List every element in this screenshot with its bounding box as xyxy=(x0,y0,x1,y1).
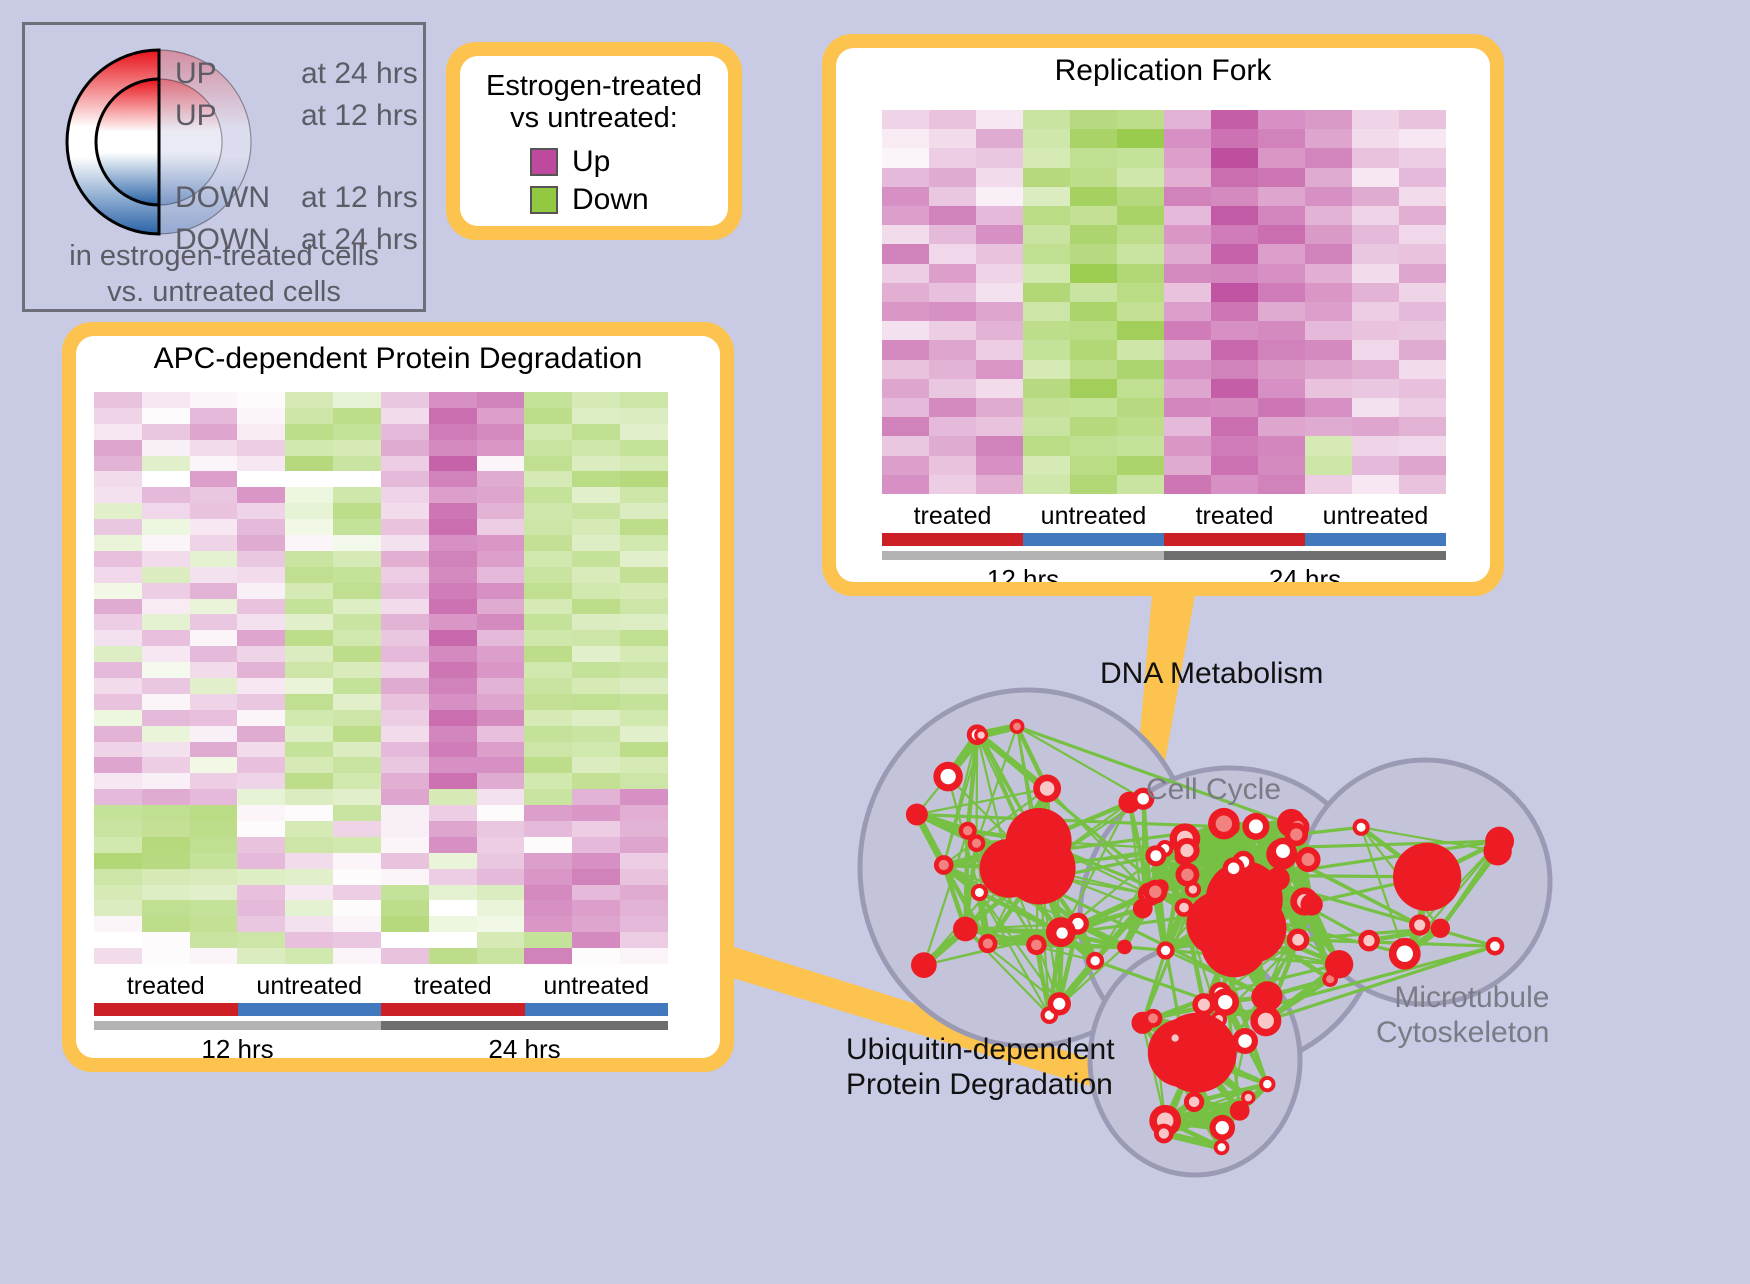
axis-treatment-segment xyxy=(94,1003,238,1016)
network-node[interactable] xyxy=(1409,914,1430,935)
network-node-core xyxy=(1053,998,1065,1010)
figure-canvas: UP at 24 hrs UP at 12 hrs DOWN at 12 hrs… xyxy=(0,0,1750,1279)
network-node-ring xyxy=(1157,1013,1237,1093)
legend-title-line-1: Estrogen-treated xyxy=(476,70,712,102)
heatmap-cell xyxy=(1352,302,1399,321)
network-node[interactable] xyxy=(911,952,937,978)
network-node[interactable] xyxy=(1211,988,1239,1016)
heatmap-cell xyxy=(285,837,333,853)
heatmap-cell xyxy=(429,742,477,758)
axis-time-label: 24 hrs xyxy=(381,1034,668,1058)
network-node[interactable] xyxy=(1026,935,1046,955)
heatmap-cell xyxy=(524,916,572,932)
heatmap-cell xyxy=(524,471,572,487)
axis-time-segment xyxy=(94,1021,381,1030)
heatmap-cell xyxy=(524,551,572,567)
heatmap-cell xyxy=(94,805,142,821)
network-node[interactable] xyxy=(1156,941,1174,959)
heatmap-cell xyxy=(333,440,381,456)
heatmap-cell xyxy=(1258,148,1305,167)
heatmap-cell xyxy=(1070,417,1117,436)
heatmap-cell xyxy=(285,424,333,440)
heatmap-cell xyxy=(285,583,333,599)
heatmap-cell xyxy=(285,519,333,535)
heatmap-cell xyxy=(1164,321,1211,340)
heatmap-cell xyxy=(237,726,285,742)
heatmap-cell xyxy=(620,662,668,678)
heatmap-cell xyxy=(94,916,142,932)
heatmap-cell xyxy=(1399,456,1446,475)
heatmap-cell xyxy=(142,678,190,694)
heatmap-cell xyxy=(1023,283,1070,302)
heatmap-cell xyxy=(1399,398,1446,417)
heatmap-cell xyxy=(237,519,285,535)
heatmap-cell xyxy=(1352,148,1399,167)
heatmap-cell xyxy=(929,417,976,436)
heatmap-cell xyxy=(1023,110,1070,129)
heatmap-apc-degradation xyxy=(94,392,668,964)
heatmap-cell xyxy=(381,614,429,630)
network-node[interactable] xyxy=(1251,984,1277,1010)
heatmap-cell xyxy=(190,805,238,821)
heatmap-cell xyxy=(1070,206,1117,225)
heatmap-cell xyxy=(620,583,668,599)
heatmap-cell xyxy=(381,392,429,408)
heatmap-cell xyxy=(381,535,429,551)
network-node[interactable] xyxy=(1259,1076,1275,1092)
network-node-core xyxy=(940,769,955,784)
heatmap-cell xyxy=(237,869,285,885)
heatmap-cell xyxy=(237,900,285,916)
heatmap-cell xyxy=(142,487,190,503)
heatmap-cell xyxy=(94,853,142,869)
heatmap-cell xyxy=(381,837,429,853)
heatmap-cell xyxy=(477,789,525,805)
heatmap-cell xyxy=(142,821,190,837)
heatmap-cell xyxy=(285,662,333,678)
heatmap-cell xyxy=(190,694,238,710)
heatmap-cell xyxy=(1164,360,1211,379)
panel-title-apc: APC-dependent Protein Degradation xyxy=(76,342,720,376)
heatmap-cell xyxy=(429,710,477,726)
heatmap-cell xyxy=(1117,379,1164,398)
heatmap-cell xyxy=(94,614,142,630)
heatmap-cell xyxy=(94,392,142,408)
heatmap-cell xyxy=(1070,264,1117,283)
heatmap-cell xyxy=(142,710,190,726)
heatmap-cell xyxy=(1305,456,1352,475)
heatmap-cell xyxy=(929,283,976,302)
network-node-core xyxy=(1435,923,1445,933)
heatmap-cell xyxy=(572,456,620,472)
heatmap-cell xyxy=(1023,360,1070,379)
heatmap-cell xyxy=(477,599,525,615)
heatmap-cell xyxy=(142,789,190,805)
heatmap-cell xyxy=(1164,148,1211,167)
panel-apc-degradation-inner: APC-dependent Protein Degradation treate… xyxy=(76,336,720,1058)
legend-panel-inner: Estrogen-treated vs untreated: Up Down xyxy=(460,56,728,226)
network-node[interactable] xyxy=(974,728,988,742)
heatmap-cell xyxy=(1258,110,1305,129)
network-node[interactable] xyxy=(906,803,928,825)
heatmap-cell xyxy=(333,519,381,535)
heatmap-cell xyxy=(976,360,1023,379)
heatmap-cell xyxy=(333,773,381,789)
network-node-core xyxy=(1181,868,1193,880)
network-node[interactable] xyxy=(1145,845,1166,866)
network-node[interactable] xyxy=(1287,928,1310,951)
heatmap-cell xyxy=(620,757,668,773)
network-node[interactable] xyxy=(1209,1115,1235,1141)
network-node[interactable] xyxy=(1214,1140,1230,1156)
heatmap-cell xyxy=(1352,206,1399,225)
heatmap-cell xyxy=(285,805,333,821)
heatmap-cell xyxy=(620,424,668,440)
heatmap-cell xyxy=(1211,206,1258,225)
heatmap-cell xyxy=(333,853,381,869)
network-node[interactable] xyxy=(1325,950,1353,978)
network-node[interactable] xyxy=(1086,952,1104,970)
heatmap-cell xyxy=(976,225,1023,244)
heatmap-cell xyxy=(572,853,620,869)
heatmap-cell xyxy=(237,916,285,932)
axis-time-label: 12 hrs xyxy=(94,1034,381,1058)
heatmap-cell xyxy=(1258,244,1305,263)
heatmap-cell xyxy=(1023,129,1070,148)
heatmap-cell xyxy=(429,853,477,869)
axis-group-label: treated xyxy=(1164,502,1305,531)
legend-item-up: Up xyxy=(530,143,712,181)
heatmap-cell xyxy=(572,837,620,853)
heatmap-cell xyxy=(333,694,381,710)
heatmap-cell xyxy=(929,244,976,263)
heatmap-cell xyxy=(882,129,929,148)
heatmap-cell xyxy=(1352,456,1399,475)
legend-label-down: Down xyxy=(572,183,649,217)
heatmap-cell xyxy=(524,646,572,662)
network-node[interactable] xyxy=(1285,823,1309,847)
network-node[interactable] xyxy=(1033,775,1061,803)
network-node[interactable] xyxy=(953,917,978,942)
heatmap-cell xyxy=(237,885,285,901)
heatmap-cell xyxy=(381,408,429,424)
heatmap-cell xyxy=(1164,398,1211,417)
heatmap-cell xyxy=(882,398,929,417)
heatmap-cell xyxy=(190,535,238,551)
heatmap-cell xyxy=(237,471,285,487)
heatmap-cell xyxy=(142,837,190,853)
network-node[interactable] xyxy=(1431,919,1450,938)
axis-time-segment xyxy=(882,551,1164,560)
heatmap-cell xyxy=(381,726,429,742)
network-node[interactable] xyxy=(1175,863,1199,887)
network-node[interactable] xyxy=(1051,922,1073,944)
network-node[interactable] xyxy=(1168,1031,1182,1045)
network-node[interactable] xyxy=(934,855,954,875)
heatmap-cell xyxy=(1211,148,1258,167)
network-node-core xyxy=(1090,956,1099,965)
heatmap-cell xyxy=(429,440,477,456)
network-node[interactable] xyxy=(968,834,986,852)
heatmap-cell xyxy=(1211,168,1258,187)
heatmap-cell xyxy=(94,503,142,519)
color-key-row-down12: DOWN at 12 hrs xyxy=(175,181,418,223)
heatmap-cell xyxy=(190,757,238,773)
legend-title-line-2: vs untreated: xyxy=(476,102,712,134)
network-node-core xyxy=(1292,934,1304,946)
heatmap-cell xyxy=(477,821,525,837)
heatmap-cell xyxy=(190,916,238,932)
heatmap-cell xyxy=(1305,321,1352,340)
heatmap-cell xyxy=(1117,264,1164,283)
heatmap-cell xyxy=(1211,129,1258,148)
heatmap-cell xyxy=(142,726,190,742)
network-node[interactable] xyxy=(1242,813,1269,840)
heatmap-cell xyxy=(976,379,1023,398)
heatmap-cell xyxy=(190,837,238,853)
heatmap-cell xyxy=(1070,168,1117,187)
heatmap-cell xyxy=(142,551,190,567)
axis-treatment-segment xyxy=(882,533,1023,546)
heatmap-cell xyxy=(333,710,381,726)
heatmap-cell xyxy=(1117,436,1164,455)
network-node-core xyxy=(1138,903,1148,913)
axis-time-segment xyxy=(1164,551,1446,560)
heatmap-cell xyxy=(1023,168,1070,187)
heatmap-cell xyxy=(429,487,477,503)
heatmap-cell xyxy=(333,392,381,408)
heatmap-cell xyxy=(94,646,142,662)
network-node[interactable] xyxy=(978,934,997,953)
heatmap-cell xyxy=(429,916,477,932)
heatmap-cell xyxy=(1070,398,1117,417)
heatmap-cell xyxy=(620,646,668,662)
network-node[interactable] xyxy=(1143,880,1167,904)
heatmap-cell xyxy=(1399,417,1446,436)
network-node[interactable] xyxy=(933,762,963,792)
heatmap-cell xyxy=(572,869,620,885)
network-node[interactable] xyxy=(1389,938,1421,970)
heatmap-cell xyxy=(1117,475,1164,494)
heatmap-cell xyxy=(1305,302,1352,321)
heatmap-cell xyxy=(1305,168,1352,187)
panel-replication-fork-inner: Replication Fork treateduntreatedtreated… xyxy=(836,48,1490,582)
network-node[interactable] xyxy=(1223,857,1245,879)
heatmap-cell xyxy=(142,773,190,789)
heatmap-cell xyxy=(524,392,572,408)
heatmap-cell xyxy=(333,456,381,472)
heatmap-cell xyxy=(1070,302,1117,321)
heatmap-cell xyxy=(1352,321,1399,340)
network-node-core xyxy=(963,826,972,835)
heatmap-cell xyxy=(524,805,572,821)
heatmap-cell xyxy=(142,456,190,472)
heatmap-cell xyxy=(572,646,620,662)
heatmap-cell xyxy=(882,360,929,379)
heatmap-cell xyxy=(1023,417,1070,436)
heatmap-cell xyxy=(190,885,238,901)
network-node[interactable] xyxy=(1486,937,1505,956)
heatmap-cell xyxy=(285,948,333,964)
heatmap-cell xyxy=(524,678,572,694)
heatmap-cell xyxy=(1258,456,1305,475)
heatmap-cell xyxy=(620,837,668,853)
network-node[interactable] xyxy=(1010,719,1025,734)
heatmap-cell xyxy=(333,900,381,916)
heatmap-cell xyxy=(1070,340,1117,359)
heatmap-cell xyxy=(929,475,976,494)
network-node-core xyxy=(1290,828,1302,840)
heatmap-cell xyxy=(285,726,333,742)
heatmap-cell xyxy=(237,773,285,789)
heatmap-cell xyxy=(237,837,285,853)
network-node[interactable] xyxy=(1048,992,1071,1015)
heatmap-cell xyxy=(572,630,620,646)
heatmap-cell xyxy=(572,662,620,678)
heatmap-cell xyxy=(524,932,572,948)
heatmap-cell xyxy=(285,869,333,885)
heatmap-cell xyxy=(190,471,238,487)
network-node[interactable] xyxy=(1154,1124,1174,1144)
heatmap-cell xyxy=(429,773,477,789)
heatmap-cell xyxy=(477,900,525,916)
heatmap-cell xyxy=(1399,302,1446,321)
network-node[interactable] xyxy=(1232,1028,1258,1054)
network-node[interactable] xyxy=(1117,940,1132,955)
heatmap-cell xyxy=(1258,360,1305,379)
heatmap-cell xyxy=(381,885,429,901)
heatmap-cell xyxy=(429,392,477,408)
network-node-core xyxy=(1302,853,1315,866)
network-node[interactable] xyxy=(1184,1092,1204,1112)
network-node-core xyxy=(1040,781,1055,796)
heatmap-cell xyxy=(237,932,285,948)
heatmap-cell xyxy=(142,885,190,901)
caption-line-2: vs. untreated cells xyxy=(25,275,423,311)
heatmap-cell xyxy=(1023,264,1070,283)
network-node[interactable] xyxy=(1296,847,1321,872)
key-word: UP xyxy=(175,99,301,133)
network-node[interactable] xyxy=(1144,1009,1163,1028)
network-node[interactable] xyxy=(1230,1101,1250,1121)
heatmap-cell xyxy=(333,424,381,440)
heatmap-cell xyxy=(477,932,525,948)
network-node[interactable] xyxy=(1157,1013,1237,1093)
heatmap-cell xyxy=(1117,417,1164,436)
heatmap-cell xyxy=(929,379,976,398)
heatmap-cell xyxy=(142,916,190,932)
network-node[interactable] xyxy=(971,884,988,901)
heatmap-cell xyxy=(620,408,668,424)
heatmap-cell xyxy=(285,678,333,694)
heatmap-cell xyxy=(477,869,525,885)
heatmap-cell xyxy=(142,662,190,678)
network-node[interactable] xyxy=(1175,898,1194,917)
heatmap-cell xyxy=(1258,321,1305,340)
heatmap-cell xyxy=(333,630,381,646)
heatmap-cell xyxy=(524,440,572,456)
axis-treatment-segment xyxy=(525,1003,669,1016)
heatmap-cell xyxy=(285,821,333,837)
heatmap-cell xyxy=(976,302,1023,321)
heatmap-cell xyxy=(381,662,429,678)
heatmap-cell xyxy=(190,408,238,424)
heatmap-cell xyxy=(524,694,572,710)
heatmap-cell xyxy=(190,614,238,630)
heatmap-cell xyxy=(1352,436,1399,455)
heatmap-cell xyxy=(333,742,381,758)
network-node[interactable] xyxy=(1485,827,1514,856)
heatmap-cell xyxy=(237,503,285,519)
heatmap-cell xyxy=(524,885,572,901)
heatmap-cell xyxy=(190,583,238,599)
heatmap-cell xyxy=(524,757,572,773)
heatmap-cell xyxy=(1352,129,1399,148)
heatmap-cell xyxy=(429,471,477,487)
network-node[interactable] xyxy=(1266,867,1290,891)
heatmap-cell xyxy=(94,742,142,758)
network-node-core xyxy=(1245,1094,1252,1101)
heatmap-cell xyxy=(1117,398,1164,417)
heatmap-cell xyxy=(142,440,190,456)
heatmap-cell xyxy=(620,900,668,916)
heatmap-cell xyxy=(1352,340,1399,359)
heatmap-cell xyxy=(94,869,142,885)
heatmap-cell xyxy=(94,424,142,440)
legend-title: Estrogen-treated vs untreated: xyxy=(476,70,712,135)
heatmap-cell xyxy=(381,424,429,440)
network-node[interactable] xyxy=(1300,893,1322,915)
heatmap-cell xyxy=(477,742,525,758)
heatmap-cell xyxy=(1070,283,1117,302)
network-node[interactable] xyxy=(1358,930,1380,952)
heatmap-cell xyxy=(1352,264,1399,283)
network-node-core xyxy=(1234,1106,1244,1116)
heatmap-cell xyxy=(572,900,620,916)
heatmap-cell xyxy=(381,630,429,646)
heatmap-cell xyxy=(1070,187,1117,206)
heatmap-cell xyxy=(237,583,285,599)
heatmap-cell xyxy=(1164,129,1211,148)
heatmap-cell xyxy=(1399,340,1446,359)
color-key-rows: UP at 24 hrs UP at 12 hrs DOWN at 12 hrs… xyxy=(175,57,418,265)
network-node-core xyxy=(1272,873,1284,885)
heatmap-cell xyxy=(477,757,525,773)
heatmap-cell xyxy=(285,567,333,583)
network-node-core xyxy=(1161,946,1170,955)
heatmap-cell xyxy=(190,900,238,916)
heatmap-cell xyxy=(333,614,381,630)
heatmap-cell xyxy=(620,789,668,805)
heatmap-cell xyxy=(572,599,620,615)
heatmap-cell xyxy=(94,773,142,789)
cluster-label-microtubule-cytoskeleton: Microtubule Cytoskeleton xyxy=(1376,980,1549,1051)
network-svg xyxy=(790,620,1750,1279)
heatmap-cell xyxy=(94,821,142,837)
heatmap-cell xyxy=(976,129,1023,148)
network-node-core xyxy=(939,860,949,870)
heatmap-cell xyxy=(333,487,381,503)
heatmap-cell xyxy=(429,424,477,440)
heatmap-cell xyxy=(94,599,142,615)
network-node[interactable] xyxy=(1174,838,1199,863)
network-node[interactable] xyxy=(1393,843,1461,911)
heatmap-cell xyxy=(477,503,525,519)
network-node[interactable] xyxy=(1208,808,1240,840)
network-node[interactable] xyxy=(1353,819,1370,836)
network-node[interactable] xyxy=(1006,808,1072,874)
heatmap-cell xyxy=(620,853,668,869)
